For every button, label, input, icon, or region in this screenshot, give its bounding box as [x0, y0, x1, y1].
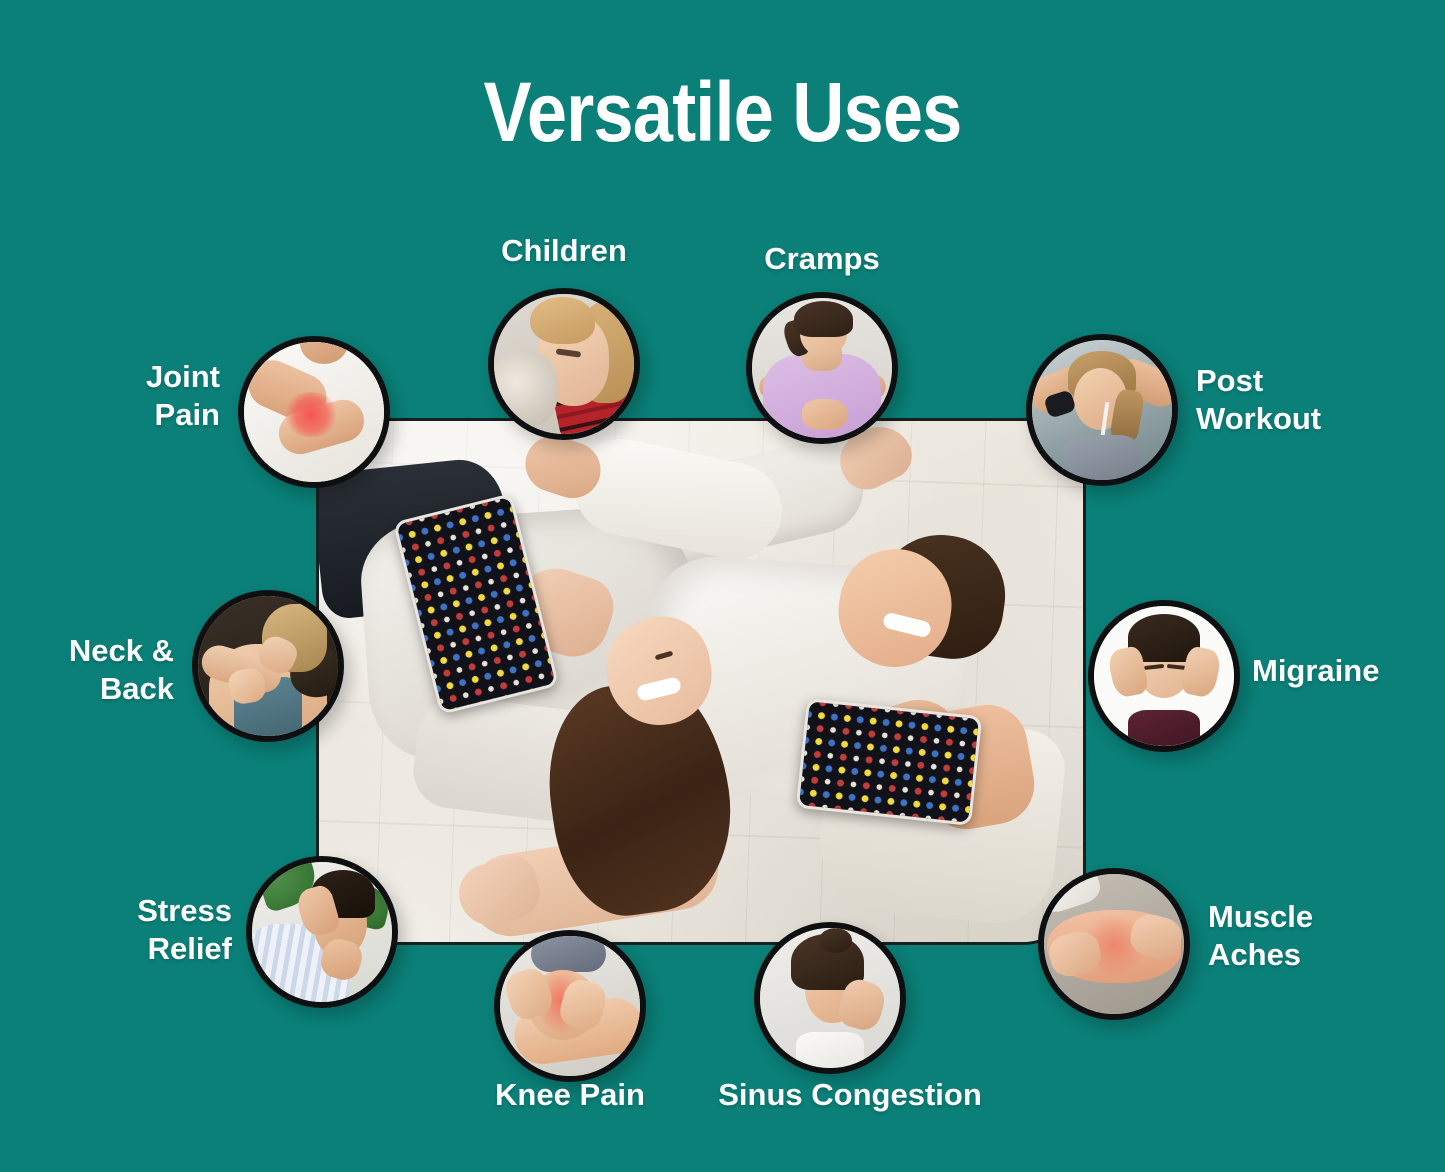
use-label-stress-relief: Stress Relief [66, 892, 232, 968]
photo-man-holding-painful-elbow [244, 342, 384, 482]
use-badge-sinus-congestion[interactable] [754, 922, 906, 1074]
photo-hands-massaging-sore-arm [1044, 874, 1184, 1014]
use-label-neck-and-back: Neck & Back [16, 632, 174, 708]
photo-woman-holding-abdomen-cramps [752, 298, 892, 438]
use-badge-cramps[interactable] [746, 292, 898, 444]
photo-woman-pinching-nose-sinus-pain [760, 928, 900, 1068]
use-badge-knee-pain[interactable] [494, 930, 646, 1082]
infographic-canvas: Versatile Uses J [0, 0, 1445, 1172]
use-label-joint-pain: Joint Pain [48, 358, 220, 434]
use-badge-joint-pain[interactable] [238, 336, 390, 488]
page-title: Versatile Uses [101, 68, 1344, 156]
use-badge-post-workout[interactable] [1026, 334, 1178, 486]
use-badge-neck-and-back[interactable] [192, 590, 344, 742]
photo-woman-pressing-temples-migraine [1094, 606, 1234, 746]
photo-woman-rubbing-neck-and-back [198, 596, 338, 736]
use-label-muscle-aches: Muscle Aches [1208, 898, 1428, 974]
use-label-children: Children [444, 232, 684, 270]
use-label-migraine: Migraine [1252, 652, 1442, 690]
hero-photo-couple-with-heating-pads [316, 418, 1086, 945]
use-label-post-workout: Post Workout [1196, 362, 1426, 438]
use-label-sinus-congestion: Sinus Congestion [690, 1076, 1010, 1114]
use-badge-children[interactable] [488, 288, 640, 440]
heating-pad-on-hip [796, 698, 983, 826]
use-badge-muscle-aches[interactable] [1038, 868, 1190, 1020]
photo-hands-holding-painful-knee [500, 936, 640, 1076]
use-label-cramps: Cramps [702, 240, 942, 278]
photo-woman-stretching-after-workout [1032, 340, 1172, 480]
use-label-knee-pain: Knee Pain [450, 1076, 690, 1114]
use-badge-migraine[interactable] [1088, 600, 1240, 752]
photo-man-holding-head-stressed [252, 862, 392, 1002]
use-badge-stress-relief[interactable] [246, 856, 398, 1008]
photo-girl-sleeping-with-plush-toy [494, 294, 634, 434]
